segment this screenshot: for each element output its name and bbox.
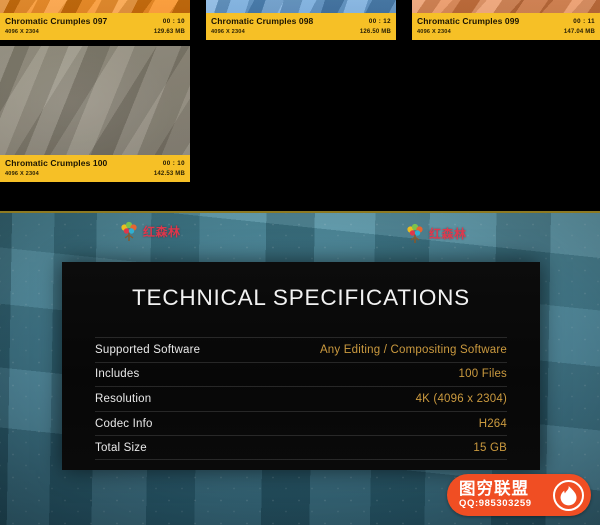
spec-label: Resolution	[95, 393, 151, 405]
tile-duration: 00 : 11	[573, 16, 595, 27]
tile-dimensions: 4096 X 2304	[5, 170, 107, 178]
tile-title: Chromatic Crumples 097	[5, 16, 107, 27]
spec-row-includes: Includes 100 Files	[95, 362, 507, 387]
spec-label: Supported Software	[95, 344, 200, 356]
spec-value: 15 GB	[473, 442, 507, 454]
specs-title: TECHNICAL SPECIFICATIONS	[62, 262, 540, 311]
page-root: Chromatic Crumples 097 4096 X 2304 00 : …	[0, 0, 600, 525]
spec-row-codec-info: Codec Info H264	[95, 411, 507, 436]
tree-icon	[404, 222, 426, 244]
tile-duration: 00 : 12	[369, 16, 391, 27]
tile-title: Chromatic Crumples 099	[417, 16, 519, 27]
watermark-text: 红森林	[429, 225, 467, 242]
spec-value: Any Editing / Compositing Software	[320, 344, 507, 356]
tile-dimensions: 4096 X 2304	[211, 28, 313, 36]
tile-dimensions: 4096 X 2304	[5, 28, 107, 36]
spec-label: Codec Info	[95, 418, 153, 430]
spec-label: Includes	[95, 368, 139, 380]
watermark-text: 红森林	[143, 223, 181, 240]
spec-label: Total Size	[95, 442, 147, 454]
badge-qq-number: QQ:985303259	[459, 498, 553, 510]
tile-filesize: 126.50 MB	[360, 28, 391, 36]
watermark-logo-right: 红森林	[404, 222, 467, 244]
tile-caption-098: Chromatic Crumples 098 4096 X 2304 00 : …	[206, 13, 396, 40]
tile-duration: 00 : 10	[163, 16, 185, 27]
tree-icon	[118, 220, 140, 242]
tile-duration: 00 : 10	[163, 158, 185, 169]
tile-filesize: 142.53 MB	[154, 170, 185, 178]
thumbnail-gallery: Chromatic Crumples 097 4096 X 2304 00 : …	[0, 0, 600, 212]
tile-filesize: 147.04 MB	[564, 28, 595, 36]
tile-dimensions: 4096 X 2304	[417, 28, 519, 36]
tile-filesize: 129.63 MB	[154, 28, 185, 36]
gallery-tile-099[interactable]: Chromatic Crumples 099 4096 X 2304 00 : …	[412, 0, 600, 40]
flame-icon	[553, 480, 584, 511]
spec-row-resolution: Resolution 4K (4096 x 2304)	[95, 386, 507, 411]
gallery-tile-100[interactable]: Chromatic Crumples 100 4096 X 2304 00 : …	[0, 46, 190, 182]
tile-caption-099: Chromatic Crumples 099 4096 X 2304 00 : …	[412, 13, 600, 40]
spec-value: H264	[479, 418, 507, 430]
tile-caption-100: Chromatic Crumples 100 4096 X 2304 00 : …	[0, 155, 190, 182]
spec-value: 4K (4096 x 2304)	[416, 393, 507, 405]
badge-name: 图穷联盟	[459, 480, 553, 498]
tile-title: Chromatic Crumples 098	[211, 16, 313, 27]
tile-title: Chromatic Crumples 100	[5, 158, 107, 169]
tile-caption-097: Chromatic Crumples 097 4096 X 2304 00 : …	[0, 13, 190, 40]
gallery-tile-098[interactable]: Chromatic Crumples 098 4096 X 2304 00 : …	[206, 0, 396, 40]
spec-row-supported-software: Supported Software Any Editing / Composi…	[95, 337, 507, 362]
spec-row-total-size: Total Size 15 GB	[95, 435, 507, 460]
gallery-tile-097[interactable]: Chromatic Crumples 097 4096 X 2304 00 : …	[0, 0, 190, 40]
qq-watermark-badge: 图穷联盟 QQ:985303259	[447, 474, 591, 516]
watermark-logo-left: 红森林	[118, 220, 181, 242]
spec-value: 100 Files	[459, 368, 507, 380]
specs-table: Supported Software Any Editing / Composi…	[95, 337, 507, 460]
technical-specifications-card: TECHNICAL SPECIFICATIONS Supported Softw…	[62, 262, 540, 470]
